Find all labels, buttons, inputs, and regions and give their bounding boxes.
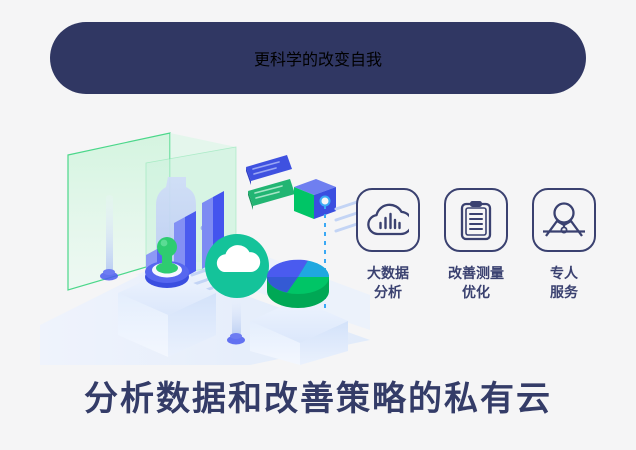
cloud-chart-icon	[356, 188, 420, 252]
feature-label: 专人 服务	[550, 264, 578, 302]
feature-item-dedicated-service[interactable]: 专人 服务	[528, 188, 600, 328]
clipboard-icon	[444, 188, 508, 252]
feature-label: 大数据 分析	[367, 264, 409, 302]
illustration-isometric-scene	[40, 125, 370, 365]
feature-label: 改善测量 优化	[448, 264, 504, 302]
support-agent-icon	[532, 188, 596, 252]
tag-green	[248, 179, 295, 210]
footer-tagline: 分析数据和改善策略的私有云	[0, 382, 636, 416]
feature-list: 大数据 分析 改善测量 优化	[352, 188, 600, 328]
3d-pie-chart	[267, 260, 329, 308]
header-banner: 更科学的改变自我	[50, 22, 586, 94]
page-title: 更科学的改变自我	[254, 46, 382, 70]
feature-item-big-data-analysis[interactable]: 大数据 分析	[352, 188, 424, 328]
feature-item-measurement-optimization[interactable]: 改善测量 优化	[440, 188, 512, 328]
